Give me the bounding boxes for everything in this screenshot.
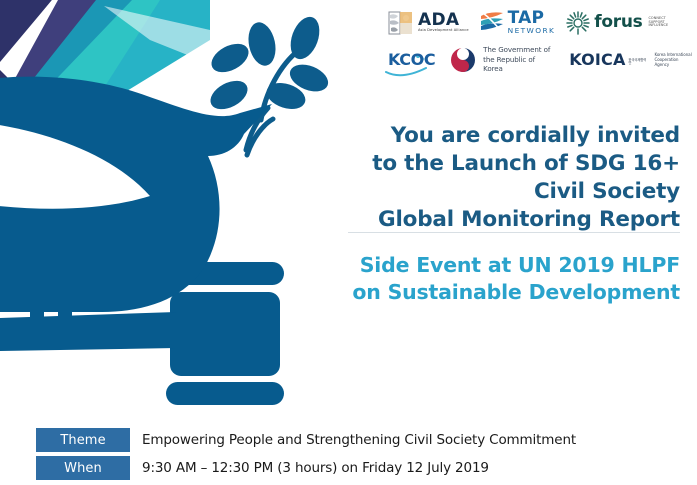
tap-wordmark: TAP: [508, 10, 556, 27]
corner-shape-teal-b: [0, 88, 44, 130]
corner-shape-teal: [26, 0, 150, 96]
logo-row-top: ADA Asia Development Alliance TAP NETWOR…: [388, 4, 693, 41]
dove-wing-notch: [0, 120, 150, 209]
olive-branch: [199, 13, 332, 155]
taegeuk-icon: [449, 46, 477, 74]
corner-geometric-art: [0, 0, 210, 130]
subtitle-line-1: Side Event at UN 2019 HLPF: [330, 252, 680, 279]
tap-network-logo: TAP NETWORK: [480, 10, 556, 35]
gavel-top-bar: [166, 262, 284, 285]
forus-sunburst-icon: [566, 11, 590, 35]
event-subtitle: Side Event at UN 2019 HLPF on Sustainabl…: [330, 252, 680, 307]
invitation-headline: You are cordially invited to the Launch …: [330, 122, 680, 234]
ada-wordmark: ADA: [418, 12, 469, 29]
corner-shape-white-a: [0, 0, 96, 86]
theme-value: Empowering People and Strengthening Civi…: [130, 428, 676, 452]
headline-line-3: Global Monitoring Report: [330, 206, 680, 234]
gavel: [0, 262, 284, 405]
forus-wordmark: forus: [594, 14, 642, 31]
forus-tagline-influence: INFLUENCE: [648, 24, 668, 28]
headline-line-2: to the Launch of SDG 16+ Civil Society: [330, 150, 680, 206]
olive-leaf-7: [199, 115, 245, 154]
subtitle-line-2: on Sustainable Development: [330, 279, 680, 306]
headline-line-1: You are cordially invited: [330, 122, 680, 150]
tap-emblem-icon: [480, 10, 504, 34]
koica-korean-name: 한국국제협력단: [629, 59, 649, 68]
gavel-bottom-bar: [166, 382, 284, 405]
gavel-handle: [0, 312, 176, 352]
olive-leaf-2: [285, 13, 324, 63]
olive-leaf-6: [263, 78, 308, 113]
olive-leaf-4: [286, 59, 332, 96]
theme-badge: Theme: [36, 428, 130, 452]
when-value: 9:30 AM – 12:30 PM (3 hours) on Friday 1…: [130, 456, 676, 480]
when-badge: When: [36, 456, 130, 480]
ada-emblem-icon: [388, 10, 414, 36]
corner-shape-cyan-b: [86, 0, 210, 116]
kcoc-logo: KCOC: [388, 52, 435, 68]
corner-shape-cyan: [40, 0, 210, 110]
event-details: Theme Empowering People and Strengthenin…: [36, 428, 676, 484]
koica-wordmark: KOICA: [569, 52, 625, 68]
detail-row-when: When 9:30 AM – 12:30 PM (3 hours) on Fri…: [36, 456, 676, 480]
invitation-poster: ADA Asia Development Alliance TAP NETWOR…: [0, 0, 697, 485]
government-republic-of-korea-logo: The Government of the Republic of Korea: [449, 45, 555, 74]
logo-row-bottom: KCOC The Government of the Republic of K…: [388, 41, 693, 78]
gavel-head: [170, 292, 280, 376]
peace-dove-illustration: [0, 0, 332, 420]
dove-body-group: [0, 77, 272, 340]
olive-leaf-1: [245, 20, 280, 68]
ada-logo: ADA Asia Development Alliance: [388, 10, 469, 36]
dove-leg-right: [58, 292, 72, 340]
olive-leaf-5: [206, 75, 253, 115]
korea-gov-line1: The Government of: [483, 45, 555, 55]
korea-gov-line2: the Republic of Korea: [483, 55, 555, 74]
olive-leaf-3: [207, 38, 254, 78]
dove-silhouette: [0, 77, 272, 312]
koica-logo: KOICA 한국국제협력단 Korea International Cooper…: [569, 52, 693, 68]
ada-tagline: Asia Development Alliance: [418, 29, 469, 33]
tap-tagline: NETWORK: [508, 27, 556, 35]
partner-logo-bar: ADA Asia Development Alliance TAP NETWOR…: [388, 4, 693, 78]
forus-logo: forus CONNECT SUPPORT INFLUENCE: [566, 11, 668, 35]
koica-tagline-line2: Cooperation Agency: [654, 57, 693, 68]
corner-art-svg: [0, 0, 210, 130]
headline-divider: [348, 232, 680, 233]
kcoc-wordmark: KCOC: [388, 52, 435, 68]
corner-shape-navy-b: [0, 70, 22, 130]
dove-svg: [0, 0, 332, 420]
dove-leg-left: [30, 292, 44, 340]
detail-row-theme: Theme Empowering People and Strengthenin…: [36, 428, 676, 452]
corner-shape-white-b: [104, 6, 210, 64]
corner-shape-navy-a: [0, 0, 52, 62]
corner-shape-indigo: [12, 0, 112, 90]
